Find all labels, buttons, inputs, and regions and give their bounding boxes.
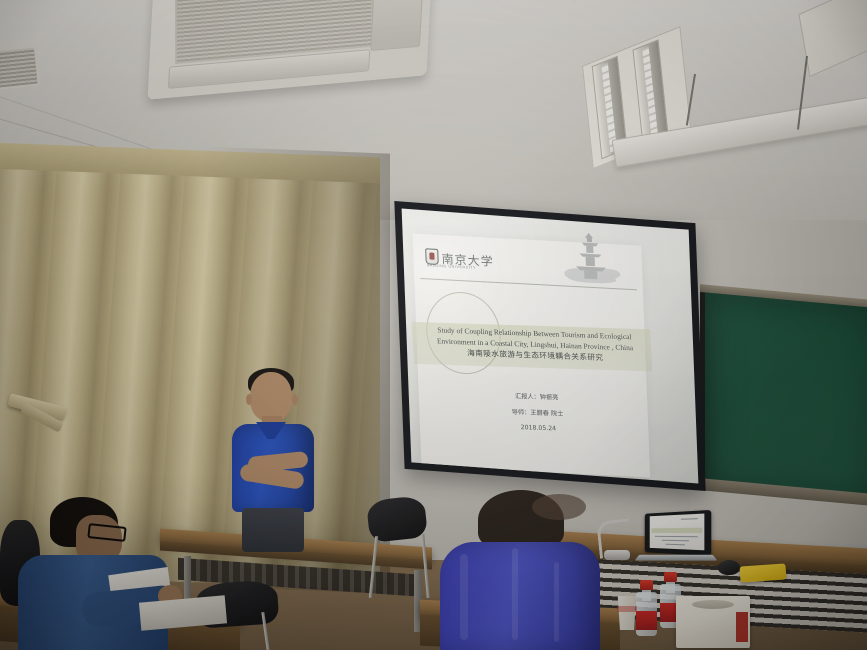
laptop-slide-band bbox=[651, 528, 702, 533]
green-chalkboard bbox=[700, 292, 867, 506]
water-bottle-1[interactable] bbox=[636, 580, 657, 636]
bottle-cap-1 bbox=[640, 580, 653, 590]
desk-lamp-base bbox=[604, 550, 630, 560]
paper-cup-stripe bbox=[617, 606, 637, 612]
ac-vent-right bbox=[370, 0, 424, 51]
audience-person-right bbox=[440, 490, 606, 650]
presenter-trousers bbox=[242, 508, 304, 552]
slide-meta-block: 汇报人：钟振亮 导师：王腊春 院士 2018.05.24 bbox=[430, 386, 645, 440]
laptop-keyboard-base[interactable] bbox=[635, 555, 718, 561]
laptop-screen bbox=[650, 514, 705, 551]
shirt-fold-1 bbox=[460, 554, 468, 640]
ceiling-grid-line bbox=[418, 0, 585, 1]
wall-speaker-vent bbox=[0, 45, 40, 90]
laptop-lid bbox=[645, 510, 712, 556]
projection-surface: 南京大学 NANJING UNIVERSITY bbox=[402, 209, 699, 484]
classroom-presentation-photo: 南京大学 NANJING UNIVERSITY bbox=[0, 0, 867, 650]
computer-mouse[interactable] bbox=[718, 560, 740, 575]
pagoda-ink-artwork bbox=[563, 230, 621, 285]
pull-down-projection-screen: 南京大学 NANJING UNIVERSITY bbox=[394, 201, 705, 491]
tissue-box-graphic bbox=[736, 612, 748, 642]
presenter-ear-right bbox=[292, 394, 298, 405]
laptop[interactable] bbox=[637, 512, 713, 564]
ceiling-grid-line bbox=[496, 0, 674, 1]
shirt-fold-3 bbox=[554, 562, 559, 642]
yellow-pouch[interactable] bbox=[739, 563, 786, 582]
audience-right-hair-highlight bbox=[532, 494, 586, 520]
presenter-head bbox=[250, 372, 292, 422]
audience-right-hair bbox=[478, 490, 564, 550]
ceiling-grid-line bbox=[574, 0, 763, 1]
ceiling-grid-line bbox=[652, 0, 851, 1]
presenter-person bbox=[226, 372, 322, 550]
presentation-slide: 南京大学 NANJING UNIVERSITY bbox=[413, 234, 651, 478]
audience-right-shirt bbox=[440, 542, 600, 650]
bottle-cap-2 bbox=[664, 572, 677, 582]
shirt-fold-2 bbox=[512, 548, 518, 640]
audience-person-left bbox=[22, 497, 192, 650]
presenter-ear-left bbox=[246, 394, 252, 405]
tissue-box-opening bbox=[692, 600, 734, 609]
